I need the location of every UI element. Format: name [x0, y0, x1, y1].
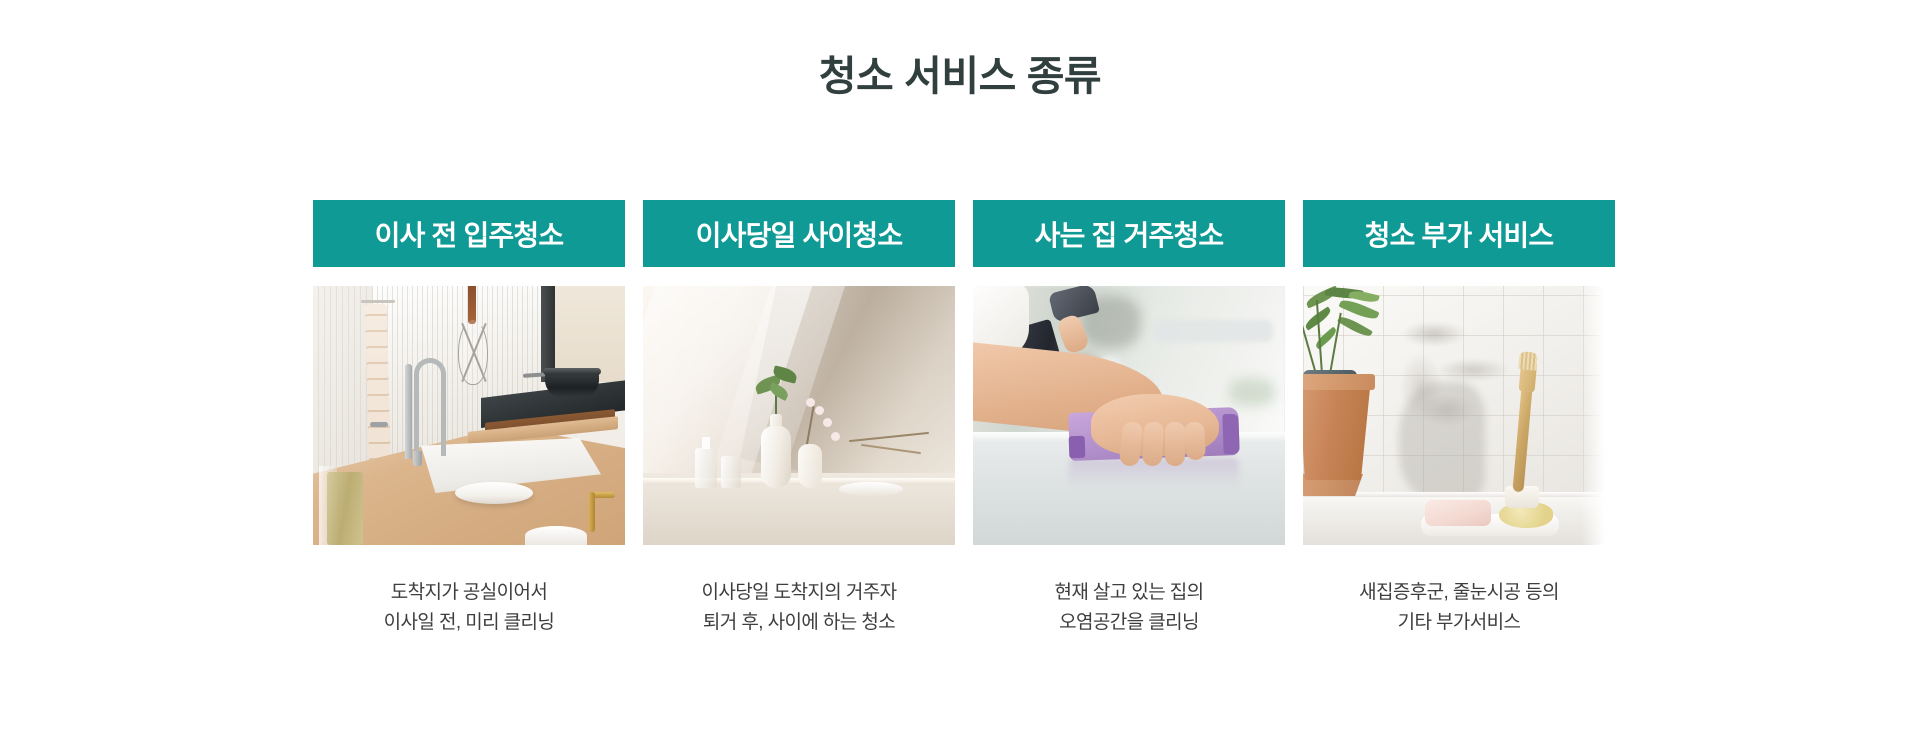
service-card-moving-day[interactable]: 이사당일 사이청소 [643, 200, 955, 638]
wiping-counter-photo [973, 286, 1285, 545]
service-card-header: 이사 전 입주청소 [313, 200, 625, 267]
cloth-fold-left [1069, 436, 1086, 459]
cabinet-handle [589, 492, 595, 532]
soap-dispenser [405, 364, 412, 459]
background-blur-shape [1153, 320, 1273, 342]
oil-bottle [327, 472, 363, 545]
service-card-row: 이사 전 입주청소 [313, 200, 1609, 638]
page-title: 청소 서비스 종류 [0, 48, 1920, 104]
pot-rim [1303, 374, 1375, 390]
blossom-icon [831, 432, 840, 441]
finger [1184, 422, 1206, 461]
bottle-cap [702, 437, 710, 449]
photo-fade-right [1581, 286, 1615, 545]
white-vase [761, 426, 791, 488]
background-blur-shape [1229, 378, 1275, 406]
whisk-icon [458, 320, 488, 385]
service-card-resident[interactable]: 사는 집 거주청소 [973, 200, 1285, 638]
service-card-move-in[interactable]: 이사 전 입주청소 [313, 200, 625, 638]
service-card-header: 사는 집 거주청소 [973, 200, 1285, 267]
service-card-caption: 이사당일 도착지의 거주자 퇴거 후, 사이에 하는 청소 [643, 578, 955, 638]
blossom-icon [806, 398, 815, 407]
finger [1165, 422, 1185, 466]
sunlit-vase-photo [643, 286, 955, 545]
towel-hook [370, 422, 388, 427]
white-dish [839, 482, 903, 496]
faucet-icon [414, 358, 446, 456]
glass-bottle [695, 448, 717, 488]
cooking-pot [545, 372, 599, 398]
service-card-caption: 현재 살고 있는 집의 오염공간을 클리닝 [973, 578, 1285, 638]
kitchen-sink-photo [313, 286, 625, 545]
blossom-icon [823, 418, 832, 427]
small-vase [798, 444, 822, 488]
service-card-caption: 새집증후군, 줄눈시공 등의 기타 부가서비스 [1303, 578, 1615, 638]
faucet-base [413, 451, 422, 466]
service-card-extras[interactable]: 청소 부가 서비스 [1303, 200, 1615, 638]
cleaning-service-section: 청소 서비스 종류 이사 전 입주청소 [0, 0, 1920, 731]
soap-bar [1425, 500, 1491, 526]
whisk-handle [468, 286, 476, 324]
glass-bottle-small [721, 456, 741, 488]
hanging-towel [365, 304, 391, 475]
towel-bar [361, 300, 395, 303]
bathroom-shelf-photo [1303, 286, 1615, 545]
toothbrush-bristles [1518, 351, 1538, 371]
pot-lid [543, 368, 601, 375]
white-bowl [525, 526, 587, 545]
service-card-header: 이사당일 사이청소 [643, 200, 955, 267]
blossom-icon [815, 406, 824, 415]
pot-shadow [1399, 382, 1485, 500]
service-card-header: 청소 부가 서비스 [1303, 200, 1615, 267]
terracotta-pot [1303, 378, 1371, 480]
cloth-fold-right [1222, 414, 1239, 455]
stacked-plates [455, 482, 533, 504]
finger [1142, 422, 1164, 467]
service-card-caption: 도착지가 공실이어서 이사일 전, 미리 클리닝 [313, 578, 625, 638]
